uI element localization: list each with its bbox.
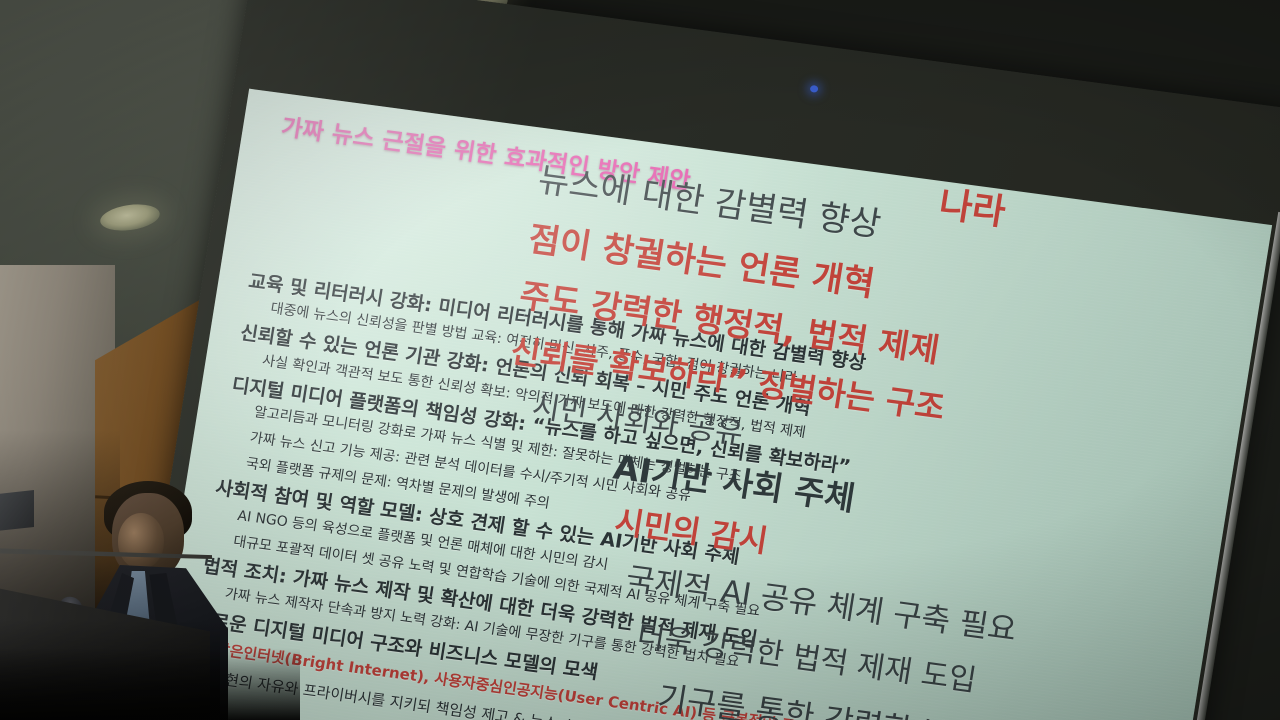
foreground-shadow	[0, 648, 300, 720]
screenshot-stage: 가짜 뉴스 근절을 위한 효과적인 방안 제안 교육 및 리터러시 강화: 미디…	[0, 0, 1280, 720]
podium-laptop	[0, 490, 34, 532]
speaker-face	[118, 513, 164, 569]
